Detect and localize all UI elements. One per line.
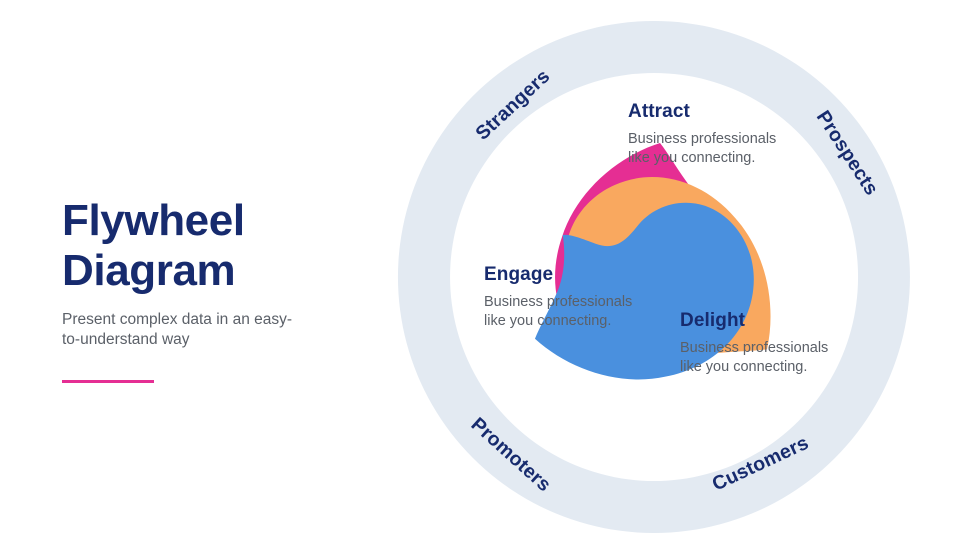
stage-block-attract: Attract Business professionals like you …: [628, 101, 818, 168]
stage-body-delight: Business professionals like you connecti…: [680, 339, 870, 377]
accent-divider: [62, 380, 154, 383]
stage-heading-attract: Attract: [628, 101, 818, 123]
stage-heading-engage: Engage: [484, 264, 664, 286]
stage-block-engage: Engage Business professionals like you c…: [484, 264, 664, 331]
stage-body-attract: Business professionals like you connecti…: [628, 130, 818, 168]
stage-heading-delight: Delight: [680, 310, 870, 332]
stage-block-delight: Delight Business professionals like you …: [680, 310, 870, 377]
slide-canvas: Flywheel Diagram Present complex data in…: [0, 0, 980, 551]
slide-subtitle: Present complex data in an easy-to-under…: [62, 310, 307, 350]
page-title: Flywheel Diagram: [62, 196, 362, 296]
stage-body-engage: Business professionals like you connecti…: [484, 293, 664, 331]
title-panel: Flywheel Diagram Present complex data in…: [62, 196, 362, 383]
